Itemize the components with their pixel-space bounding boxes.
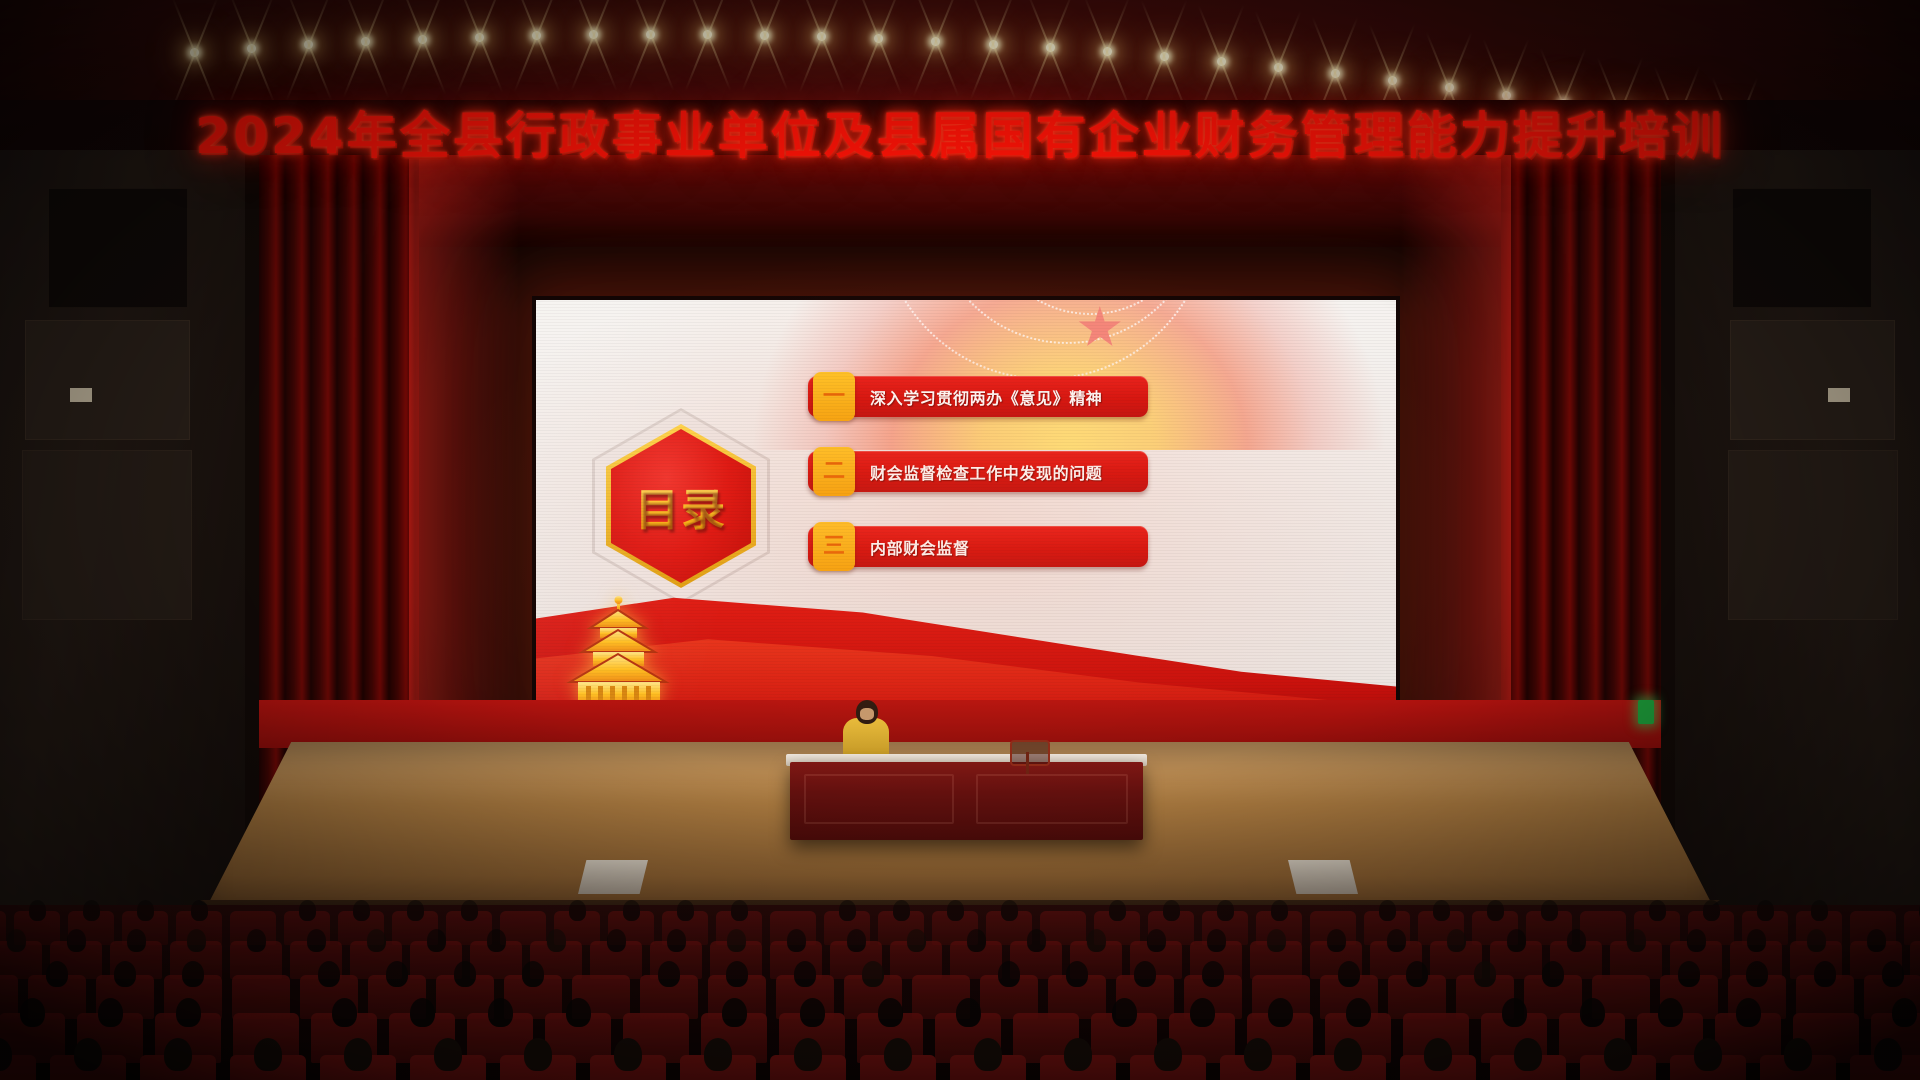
audience-member xyxy=(1474,961,1496,987)
audience-member xyxy=(1406,961,1428,987)
audience-seat xyxy=(1910,941,1920,979)
audience-member xyxy=(137,900,154,920)
audience-member xyxy=(522,961,544,987)
audience-member xyxy=(1027,929,1046,951)
ceiling-lamp xyxy=(1388,76,1397,85)
led-screen[interactable]: 目录 一 深入学习贯彻两办《意见》精神 二 财会监督检查工作中发现的问题 三 内… xyxy=(532,296,1400,732)
ceiling-lamp xyxy=(760,31,769,40)
audience-member xyxy=(176,998,201,1028)
audience-seat xyxy=(0,911,6,945)
audience-member xyxy=(1154,1038,1182,1071)
audience-member xyxy=(1190,998,1215,1028)
audience-member xyxy=(794,961,816,987)
audience-member xyxy=(1678,961,1700,987)
audience-member xyxy=(434,1038,462,1071)
audience-member xyxy=(1784,1038,1812,1071)
audience-member xyxy=(569,900,586,920)
stage-monitor-right xyxy=(1288,860,1358,894)
audience-member xyxy=(7,929,26,951)
audience-member xyxy=(1814,961,1836,987)
ceiling-lamp xyxy=(247,44,256,53)
wall-light xyxy=(1828,388,1850,402)
wall-panel xyxy=(1730,320,1895,440)
audience-member xyxy=(1542,961,1564,987)
podium-table xyxy=(790,762,1143,840)
audience-member xyxy=(1433,900,1450,920)
microphone-stand-icon xyxy=(1010,740,1050,766)
audience-member xyxy=(974,1038,1002,1071)
audience-member xyxy=(488,998,513,1028)
audience-member xyxy=(1892,998,1917,1028)
ceiling-lamp xyxy=(361,37,370,46)
audience-member xyxy=(1687,929,1706,951)
audience-member xyxy=(794,1038,822,1071)
audience-member xyxy=(1703,900,1720,920)
audience-member xyxy=(1811,900,1828,920)
ceiling-lamp xyxy=(589,30,598,39)
audience-member xyxy=(332,998,357,1028)
catalogue-badge: 目录 xyxy=(592,408,770,604)
badge-label: 目录 xyxy=(635,474,727,538)
audience-member xyxy=(182,961,204,987)
toc-item-1[interactable]: 一 深入学习贯彻两办《意见》精神 xyxy=(808,376,1148,417)
audience-member xyxy=(967,929,986,951)
audience-member xyxy=(386,961,408,987)
audience-member xyxy=(862,961,884,987)
podium-panel xyxy=(976,774,1128,824)
ceiling-lamp xyxy=(1103,47,1112,56)
audience-member xyxy=(1334,1038,1362,1071)
audience-member xyxy=(1541,900,1558,920)
audience-member xyxy=(1267,929,1286,951)
speaker-face xyxy=(860,708,874,720)
audience-member xyxy=(1447,929,1466,951)
audience-member xyxy=(344,1038,372,1071)
audience-member xyxy=(1514,1038,1542,1071)
temple-of-heaven-icon xyxy=(560,594,680,714)
toc-item-3[interactable]: 三 内部财会监督 xyxy=(808,526,1148,567)
audience-member xyxy=(1487,900,1504,920)
ceiling-lamp xyxy=(989,40,998,49)
audience-member xyxy=(726,961,748,987)
audience-member xyxy=(727,929,746,951)
wall-panel xyxy=(48,188,188,308)
audience-member xyxy=(1207,929,1226,951)
audience-member xyxy=(607,929,626,951)
presentation-slide: 目录 一 深入学习贯彻两办《意见》精神 二 财会监督检查工作中发现的问题 三 内… xyxy=(536,300,1396,728)
audience-member xyxy=(1627,929,1646,951)
audience-member xyxy=(307,929,326,951)
audience-member xyxy=(1327,929,1346,951)
wall-panel xyxy=(25,320,190,440)
audience-member xyxy=(487,929,506,951)
audience-member xyxy=(98,998,123,1028)
audience-member xyxy=(1507,929,1526,951)
audience-member xyxy=(667,929,686,951)
audience-member xyxy=(1112,998,1137,1028)
audience-member xyxy=(20,998,45,1028)
audience-member xyxy=(947,900,964,920)
audience-member xyxy=(623,900,640,920)
audience-member xyxy=(187,929,206,951)
audience-member xyxy=(614,1038,642,1071)
exit-sign-icon xyxy=(1638,700,1654,724)
audience-member xyxy=(956,998,981,1028)
auditorium-scene: 2024年全县行政事业单位及县属国有企业财务管理能力提升培训 目录 一 xyxy=(0,0,1920,1080)
wall-right xyxy=(1650,150,1920,910)
audience-member xyxy=(1604,1038,1632,1071)
ceiling-lamp xyxy=(418,35,427,44)
audience-member xyxy=(83,900,100,920)
audience-member xyxy=(1387,929,1406,951)
audience-seat xyxy=(1040,911,1086,945)
audience-member xyxy=(704,1038,732,1071)
audience-member xyxy=(1567,929,1586,951)
audience-member xyxy=(1874,1038,1902,1071)
audience-member xyxy=(1202,961,1224,987)
ceiling-lamp xyxy=(475,33,484,42)
audience-member xyxy=(367,929,386,951)
wall-panel xyxy=(1728,450,1898,620)
ceiling-lamp xyxy=(304,40,313,49)
audience-member xyxy=(677,900,694,920)
audience-member xyxy=(893,900,910,920)
audience-member xyxy=(566,998,591,1028)
audience-member xyxy=(353,900,370,920)
audience-member xyxy=(1066,961,1088,987)
audience-member xyxy=(998,961,1020,987)
audience-member xyxy=(731,900,748,920)
audience-member xyxy=(1271,900,1288,920)
audience-member xyxy=(1087,929,1106,951)
audience-member xyxy=(1109,900,1126,920)
audience-member xyxy=(247,929,266,951)
audience-member xyxy=(1757,900,1774,920)
audience-member xyxy=(1163,900,1180,920)
audience-member xyxy=(1346,998,1371,1028)
audience-member xyxy=(1747,929,1766,951)
toc-number-icon: 三 xyxy=(813,522,855,571)
audience-member xyxy=(427,929,446,951)
ceiling-lamp xyxy=(1046,43,1055,52)
audience-member xyxy=(884,1038,912,1071)
audience-member xyxy=(1217,900,1234,920)
wall-panel xyxy=(22,450,192,620)
audience-member xyxy=(839,900,856,920)
podium-panel xyxy=(804,774,954,824)
wall-panel xyxy=(1732,188,1872,308)
audience-member xyxy=(410,998,435,1028)
ceiling-lamp xyxy=(874,34,883,43)
toc-number-icon: 二 xyxy=(813,447,855,496)
audience-member xyxy=(461,900,478,920)
audience-member xyxy=(29,900,46,920)
toc-number-icon: 一 xyxy=(813,372,855,421)
ceiling-lamp xyxy=(190,48,199,57)
toc-item-2[interactable]: 二 财会监督检查工作中发现的问题 xyxy=(808,451,1148,492)
audience-member xyxy=(800,998,825,1028)
audience-member xyxy=(1807,929,1826,951)
audience-seat xyxy=(1580,911,1626,945)
audience-member xyxy=(1379,900,1396,920)
audience-member xyxy=(74,1038,102,1071)
audience-member xyxy=(1867,929,1886,951)
ceiling-lamp xyxy=(1502,91,1511,100)
audience-seat xyxy=(500,911,546,945)
audience-member xyxy=(454,961,476,987)
audience-member xyxy=(191,900,208,920)
audience-member xyxy=(318,961,340,987)
ceiling-lamp xyxy=(532,31,541,40)
wall-light xyxy=(70,388,92,402)
stage-monitor-left xyxy=(578,860,648,894)
audience-member xyxy=(254,1038,282,1071)
audience-member xyxy=(1649,900,1666,920)
audience-member xyxy=(907,929,926,951)
ceiling-lamp xyxy=(817,32,826,41)
audience-member xyxy=(1001,900,1018,920)
audience-member xyxy=(524,1038,552,1071)
toc-label: 内部财会监督 xyxy=(870,535,970,559)
audience-member xyxy=(1064,1038,1092,1071)
stage-backwall xyxy=(259,700,1661,748)
audience-member xyxy=(1244,1038,1272,1071)
audience-member xyxy=(1746,961,1768,987)
audience-member xyxy=(1502,998,1527,1028)
toc-list: 一 深入学习贯彻两办《意见》精神 二 财会监督检查工作中发现的问题 三 内部财会… xyxy=(808,376,1148,601)
ceiling-lamp xyxy=(1445,83,1454,92)
audience-member xyxy=(46,961,68,987)
ceiling-lamp xyxy=(931,37,940,46)
audience-member xyxy=(114,961,136,987)
audience-member xyxy=(1882,961,1904,987)
audience-member xyxy=(787,929,806,951)
audience-member xyxy=(1424,1038,1452,1071)
audience-member xyxy=(847,929,866,951)
ceiling-lamp xyxy=(703,30,712,39)
wall-left xyxy=(0,150,270,910)
audience-member xyxy=(547,929,566,951)
audience-member xyxy=(407,900,424,920)
audience-member xyxy=(1736,998,1761,1028)
audience-member xyxy=(1147,929,1166,951)
ceiling-lamp xyxy=(1274,63,1283,72)
toc-label: 深入学习贯彻两办《意见》精神 xyxy=(870,385,1102,409)
audience-member xyxy=(878,998,903,1028)
audience-member xyxy=(1694,1038,1722,1071)
audience-member xyxy=(1658,998,1683,1028)
audience-area xyxy=(0,905,1920,1080)
audience-member xyxy=(67,929,86,951)
audience-member xyxy=(299,900,316,920)
ceiling-lamp xyxy=(1331,69,1340,78)
audience-member xyxy=(127,929,146,951)
ceiling-lamp xyxy=(1217,57,1226,66)
microphone-stem xyxy=(1026,752,1029,774)
audience-member xyxy=(1134,961,1156,987)
audience-member xyxy=(1338,961,1360,987)
audience-member xyxy=(1580,998,1605,1028)
ceiling-lamp xyxy=(646,30,655,39)
ceiling-lamp xyxy=(1160,52,1169,61)
audience-member xyxy=(658,961,680,987)
audience-member xyxy=(164,1038,192,1071)
toc-label: 财会监督检查工作中发现的问题 xyxy=(870,460,1102,484)
audience-member xyxy=(722,998,747,1028)
audience-seat xyxy=(1904,911,1920,945)
audience-member xyxy=(1268,998,1293,1028)
